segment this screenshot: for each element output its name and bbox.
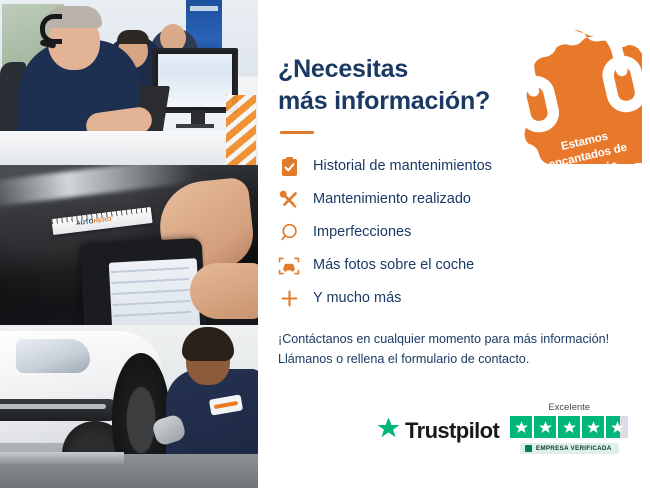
- promo-seal-badge: Estamos encantados de darte más informac…: [506, 28, 642, 164]
- inspector-hand-left: [190, 263, 258, 319]
- trustpilot-rating: Excelente: [510, 402, 628, 454]
- paragraph-line-2: Llámanos o rellena el formulario de cont…: [278, 352, 529, 366]
- car-grille: [0, 399, 120, 421]
- check-icon: [525, 445, 532, 452]
- star-rating: [510, 416, 628, 438]
- monitor-stand: [176, 124, 214, 128]
- verified-company-badge: EMPRESA VERIFICADA: [520, 443, 619, 454]
- list-item: Más fotos sobre el coche: [278, 249, 630, 282]
- list-item: Mantenimiento realizado: [278, 183, 630, 216]
- call-center-agents-photo: [0, 0, 258, 165]
- tablet-screen-rows: [111, 267, 192, 323]
- mechanic-wheel-photo: [0, 325, 258, 488]
- feature-label: Mantenimiento realizado: [313, 192, 471, 208]
- title-line-2: más información?: [278, 87, 490, 115]
- paragraph-line-1: ¡Contáctanos en cualquier momento para m…: [278, 332, 609, 346]
- list-item: Imperfecciones: [278, 216, 630, 249]
- car-inspection-ruler-photo: AUTOHERO: [0, 165, 258, 325]
- star-filled: [510, 416, 532, 438]
- feature-label: Imperfecciones: [313, 225, 411, 241]
- rating-label: Excelente: [548, 402, 590, 413]
- magnifier-icon: [278, 221, 300, 245]
- contact-paragraph: ¡Contáctanos en cualquier momento para m…: [278, 329, 630, 370]
- feature-label: Historial de mantenimientos: [313, 159, 492, 175]
- star-filled: [534, 416, 556, 438]
- verified-label: EMPRESA VERIFICADA: [536, 445, 612, 452]
- car-headlight: [16, 339, 90, 373]
- title-line-1: ¿Necesitas: [278, 55, 408, 83]
- title-divider: [280, 131, 314, 134]
- list-item: Y mucho más: [278, 282, 630, 315]
- feature-list: Historial de mantenimientos Mantenimient…: [278, 150, 630, 315]
- trustpilot-widget[interactable]: Trustpilot Excelente: [376, 402, 628, 454]
- headset-worn: [40, 14, 62, 44]
- star-filled: [558, 416, 580, 438]
- plus-icon: [278, 287, 300, 311]
- trustpilot-brand: Trustpilot: [376, 416, 499, 445]
- information-banner: AUTOHERO ¿Necesitas más información?: [0, 0, 650, 488]
- white-desk: [0, 131, 258, 165]
- star-partial: [606, 416, 628, 438]
- feature-label: Y mucho más: [313, 291, 401, 307]
- photo-collage: AUTOHERO: [0, 0, 258, 488]
- seal-starburst-shape: [506, 28, 642, 164]
- star-filled: [582, 416, 604, 438]
- orange-decor: [226, 95, 256, 165]
- clipboard-check-icon: [278, 155, 300, 179]
- tools-icon: [278, 188, 300, 212]
- trustpilot-star-icon: [376, 416, 401, 445]
- trustpilot-wordmark: Trustpilot: [405, 418, 499, 444]
- car-lift-ramp: [0, 452, 124, 464]
- car-photo-frame-icon: [278, 254, 300, 278]
- feature-label: Más fotos sobre el coche: [313, 258, 474, 274]
- page-title: ¿Necesitas más información?: [278, 54, 518, 117]
